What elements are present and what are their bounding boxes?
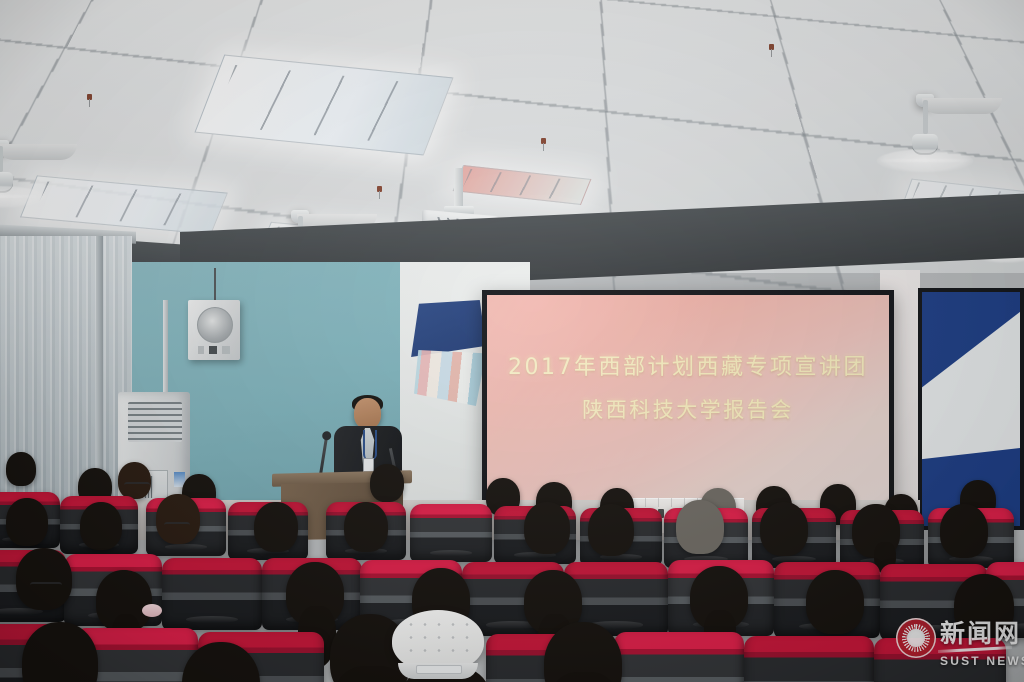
sprinkler-head-icon	[376, 186, 383, 199]
audience-member	[16, 548, 72, 610]
audience-member	[254, 502, 298, 552]
eyeglasses-icon	[124, 482, 150, 493]
auditorium-seat	[614, 632, 744, 682]
audience-member	[156, 494, 200, 544]
eyeglasses-icon	[30, 582, 62, 593]
audience-member	[760, 502, 808, 556]
eyeglasses-icon	[164, 522, 190, 533]
hair-bow	[142, 604, 162, 617]
watermark-chinese-text: 新闻网	[940, 614, 1021, 650]
slide-title-line-2: 陕西科技大学报告会	[487, 390, 889, 431]
audience-member	[940, 504, 988, 558]
auditorium-seat	[162, 558, 262, 630]
audience-member	[344, 502, 388, 552]
university-seal-icon	[896, 618, 936, 658]
audience-member	[806, 570, 864, 634]
sust-news-net-watermark: 新闻网 SUST NEWS NET	[896, 612, 1014, 674]
watermark-english-text: SUST NEWS NET	[940, 654, 1024, 668]
speaker-cone-icon	[197, 307, 233, 343]
blue-fan-wall-decoration	[404, 300, 490, 408]
audience-member	[6, 452, 36, 486]
audience-member	[6, 498, 48, 546]
ac-grille	[128, 402, 182, 442]
sprinkler-head-icon	[86, 94, 93, 107]
sprinkler-head-icon	[768, 44, 775, 57]
auditorium-seat	[744, 636, 874, 682]
audience-member	[588, 504, 634, 556]
audience-member	[118, 462, 151, 499]
wall-mounted-pa-speaker	[188, 300, 240, 360]
sprinkler-head-icon	[540, 138, 547, 151]
auditorium-photo: 2017年西部计划西藏专项宣讲团 陕西科技大学报告会	[0, 0, 1024, 682]
audience-member	[370, 464, 404, 502]
audience-member	[676, 500, 724, 554]
speaker-wire	[214, 268, 216, 302]
ac-pipe	[163, 300, 168, 396]
audience-member	[524, 502, 570, 554]
white-baseball-cap	[392, 610, 484, 672]
auditorium-seat	[410, 504, 492, 562]
audience-member	[80, 502, 122, 550]
slide-title-line-1: 2017年西部计划西藏专项宣讲团	[487, 347, 889, 390]
slide-text-block: 2017年西部计划西藏专项宣讲团 陕西科技大学报告会	[487, 347, 889, 431]
speaker-controls	[198, 346, 230, 354]
audience-seating-area	[0, 446, 1024, 682]
